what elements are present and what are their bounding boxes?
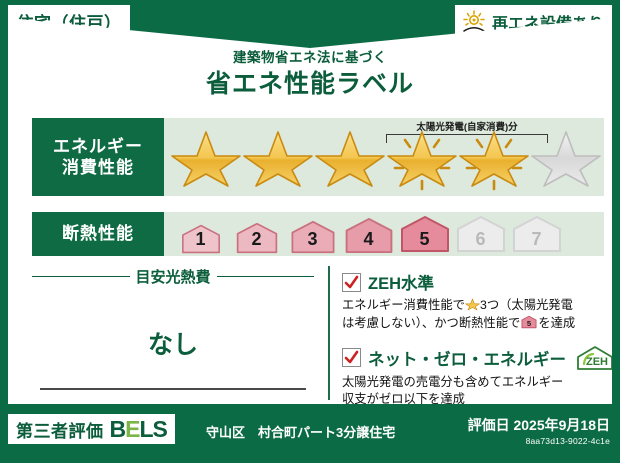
star-filled-solar	[386, 123, 458, 191]
inline-insulation-badge-icon: 5	[521, 314, 537, 330]
net-zero-energy-description: 太陽光発電の売電分も含めてエネルギー 収支がゼロ以下を達成	[342, 374, 604, 409]
insulation-badge-6-value: 6	[454, 229, 507, 250]
star-filled	[170, 123, 242, 191]
insulation-badge-6: 6	[454, 214, 507, 254]
evaluation-date-value: 2025年9月18日	[513, 417, 610, 433]
third-party-evaluation-label: 第三者評価	[16, 417, 104, 442]
section-vertical-divider	[328, 266, 330, 400]
insulation-badge-2: 2	[230, 222, 283, 254]
insulation-badge-2-value: 2	[230, 229, 283, 250]
zeh-desc-part-b: は考慮しない）、かつ断熱性能で	[342, 316, 520, 330]
zeh-standard-title: ZEH水準	[368, 270, 434, 294]
net-zero-energy-checkbox[interactable]	[342, 348, 361, 367]
insulation-performance-row: 断熱性能 1 2	[32, 212, 604, 256]
insulation-rating-area: 1 2 3	[164, 212, 604, 256]
star-rating	[164, 118, 604, 196]
check-icon	[344, 350, 359, 365]
star-filled	[242, 123, 314, 191]
bels-logo-s: S	[153, 416, 167, 443]
zeh-block: ZEH水準 エネルギー消費性能で 3つ（太陽光発電 は考慮しない）、かつ断熱性能…	[342, 270, 604, 409]
footer: 第三者評価 BELS 守山区 村合町パート3分譲住宅 評価日 2025年9月18…	[0, 406, 620, 463]
insulation-badge-3: 3	[286, 220, 339, 254]
net-zero-energy-title: ネット・ゼロ・エネルギー	[368, 346, 566, 370]
utility-cost-value: なし	[32, 325, 314, 361]
energy-performance-row: エネルギー 消費性能 太陽光発電(自家消費)分	[32, 118, 604, 196]
utility-cost-heading: 目安光熱費	[32, 266, 314, 287]
zeh-desc-part-c: を達成	[538, 316, 575, 330]
label-panel: 建築物省エネ法に基づく 省エネ性能ラベル エネルギー 消費性能 太陽光発電(自家…	[8, 18, 612, 404]
insulation-badge-1-value: 1	[174, 229, 227, 250]
evaluation-date: 評価日 2025年9月18日	[468, 415, 610, 435]
star-empty	[530, 123, 602, 191]
insulation-badge-5: 5	[398, 214, 451, 254]
zeh-standard-checkbox[interactable]	[342, 273, 361, 292]
check-icon	[344, 275, 359, 290]
utility-cost-block: 目安光熱費 なし	[32, 266, 314, 400]
insulation-badge-4-value: 4	[342, 229, 395, 250]
bels-logo: BELS	[110, 416, 167, 443]
bels-badge: 第三者評価 BELS	[8, 414, 175, 444]
heading-rule-right	[217, 276, 315, 278]
utility-cost-divider	[40, 388, 306, 390]
page-title: 省エネ性能ラベル	[8, 64, 612, 100]
energy-label-line1: エネルギー	[53, 136, 143, 157]
zeh-standard-row: ZEH水準	[342, 270, 604, 294]
energy-rating-area: 太陽光発電(自家消費)分	[164, 118, 604, 196]
energy-performance-label: エネルギー 消費性能	[32, 118, 164, 196]
sun-solar-icon	[461, 10, 487, 34]
insulation-level-badges: 1 2 3	[164, 212, 604, 256]
energy-label-root: 住宅（住戸） 再エネ設備あり 建築物省エネ法に基づ	[0, 0, 620, 463]
zeh-standard-description: エネルギー消費性能で 3つ（太陽光発電 は考慮しない）、かつ断熱性能で 5 を達…	[342, 297, 604, 333]
insulation-badge-1: 1	[174, 224, 227, 254]
evaluation-info: 評価日 2025年9月18日 8aa73d13-9022-4c1e	[468, 415, 610, 446]
insulation-badge-4: 4	[342, 217, 395, 254]
heading-rule-left	[32, 276, 130, 278]
insulation-badge-5-value: 5	[398, 229, 451, 250]
title-subtitle: 建築物省エネ法に基づく	[8, 46, 612, 66]
insulation-performance-label: 断熱性能	[32, 212, 164, 256]
zeh-house-logo-icon: ZEH	[575, 345, 615, 371]
insulation-label-text: 断熱性能	[62, 223, 134, 244]
net-zero-desc-line2: 収支がゼロ以下を達成	[342, 392, 465, 406]
inline-star-icon	[465, 297, 480, 311]
bels-logo-e: E	[125, 416, 139, 443]
net-zero-desc-line1: 太陽光発電の売電分も含めてエネルギー	[342, 375, 563, 389]
svg-text:5: 5	[527, 319, 532, 328]
estate-name: 守山区 村合町パート3分譲住宅	[206, 422, 395, 441]
insulation-badge-7-value: 7	[510, 229, 563, 250]
zeh-desc-star-count: 3つ（太陽光発電	[480, 298, 573, 312]
star-filled	[314, 123, 386, 191]
bels-logo-b: B	[110, 416, 126, 443]
star-filled-solar	[458, 123, 530, 191]
bels-logo-l: L	[139, 416, 152, 443]
zeh-desc-part-a: エネルギー消費性能で	[342, 298, 465, 312]
evaluation-date-label: 評価日	[468, 417, 510, 433]
net-zero-energy-section: ネット・ゼロ・エネルギー ZEH r2EHJ 太陽光発電の売電分も含めてエネルギ…	[342, 345, 604, 409]
insulation-badge-3-value: 3	[286, 229, 339, 250]
insulation-badge-7: 7	[510, 214, 563, 254]
evaluation-id: 8aa73d13-9022-4c1e	[468, 436, 610, 446]
energy-label-line2: 消費性能	[62, 157, 134, 178]
utility-cost-heading-text: 目安光熱費	[136, 266, 211, 287]
net-zero-energy-row: ネット・ゼロ・エネルギー ZEH r2EHJ	[342, 345, 604, 371]
svg-text:ZEH: ZEH	[586, 356, 608, 368]
